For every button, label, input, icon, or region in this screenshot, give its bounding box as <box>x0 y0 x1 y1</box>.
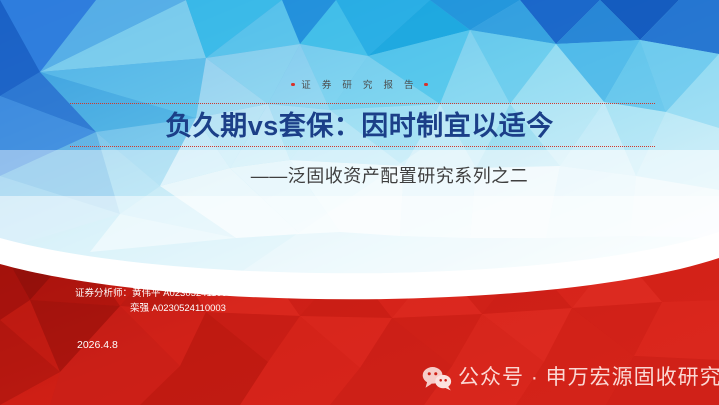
bullet-dot-left-icon <box>291 83 294 86</box>
bullet-dot-right-icon <box>424 83 427 86</box>
dotted-rule-top <box>70 103 655 104</box>
analyst-line-2: 栾强 A0230524110003 <box>75 302 237 317</box>
page-title: 负久期vs套保：因时制宜以适今 <box>0 108 719 144</box>
slide-canvas: 证 券 研 究 报 告 负久期vs套保：因时制宜以适今 ——泛固收资产配置研究系… <box>0 0 719 405</box>
analyst-line-1: 证券分析师：黄伟平 A0230524110002 <box>75 287 237 302</box>
kicker: 证 券 研 究 报 告 <box>0 78 719 94</box>
kicker-label: 证 券 研 究 报 告 <box>299 81 419 91</box>
page-subtitle: ——泛固收资产配置研究系列之二 <box>0 163 719 189</box>
blue-polygon-field <box>0 0 719 300</box>
wechat-icon <box>422 365 452 391</box>
footer-brand[interactable]: 公众号 · 申万宏源固收研究 <box>422 362 719 394</box>
dotted-rule-bottom <box>70 146 655 147</box>
footer-brand-label: 公众号 · 申万宏源固收研究 <box>458 365 719 391</box>
analyst-block: 证券分析师：黄伟平 A0230524110002 栾强 A02305241100… <box>75 287 237 316</box>
publication-date: 2026.4.8 <box>77 338 118 352</box>
